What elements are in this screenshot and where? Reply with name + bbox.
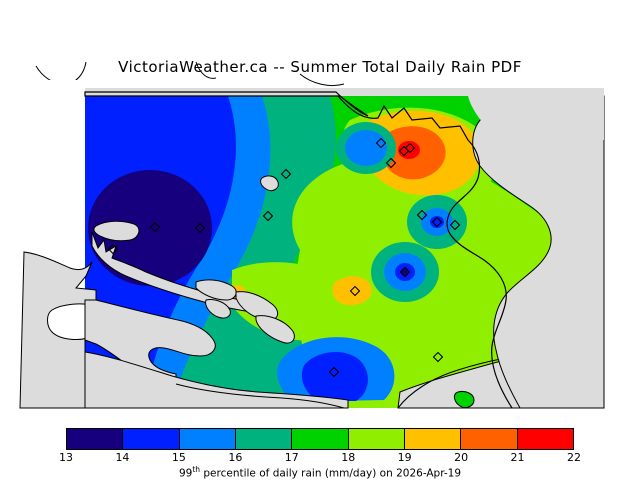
caption-rest: percentile of daily rain (mm/day) on 202… — [200, 468, 461, 480]
colorbar-legend: 13141516171819202122 99th percentile of … — [0, 420, 640, 480]
colorbar-tick-18: 18 — [341, 451, 355, 464]
caption-ordinal: th — [192, 465, 200, 474]
caption-prefix: 99 — [179, 468, 192, 480]
colorbar-band-16-17 — [236, 429, 292, 449]
cold-cell-c-centre — [401, 268, 409, 276]
colorbar-tick-16: 16 — [228, 451, 242, 464]
colorbar-band-18-19 — [349, 429, 405, 449]
colorbar-band-13-14 — [67, 429, 123, 449]
colorbar-tick-14: 14 — [115, 451, 129, 464]
colorbar-tick-19: 19 — [398, 451, 412, 464]
colorbar-tick-13: 13 — [59, 451, 73, 464]
colorbar-tick-20: 20 — [454, 451, 468, 464]
cold-cell-a-inner — [345, 130, 387, 166]
colorbar-band-17-18 — [292, 429, 348, 449]
colorbar — [66, 428, 574, 450]
colorbar-tick-17: 17 — [285, 451, 299, 464]
weather-map-page: VictoriaWeather.ca -- Summer Total Daily… — [0, 0, 640, 480]
cold-cell-d-core — [302, 352, 368, 401]
contour-core-21-22 — [398, 141, 420, 159]
page-title: VictoriaWeather.ca -- Summer Total Daily… — [0, 58, 640, 76]
colorbar-band-19-20 — [405, 429, 461, 449]
colorbar-tick-22: 22 — [567, 451, 581, 464]
colorbar-band-20-21 — [461, 429, 517, 449]
colorbar-caption: 99th percentile of daily rain (mm/day) o… — [0, 465, 640, 480]
colorbar-band-15-16 — [180, 429, 236, 449]
colorbar-tick-21: 21 — [511, 451, 525, 464]
map-panel: VictoriaWeather.ca -- Summer Total Daily… — [0, 0, 640, 412]
colorbar-tick-15: 15 — [172, 451, 186, 464]
colorbar-band-21-22 — [518, 429, 573, 449]
colorbar-tick-labels: 13141516171819202122 — [0, 451, 640, 465]
colorbar-band-14-15 — [123, 429, 179, 449]
